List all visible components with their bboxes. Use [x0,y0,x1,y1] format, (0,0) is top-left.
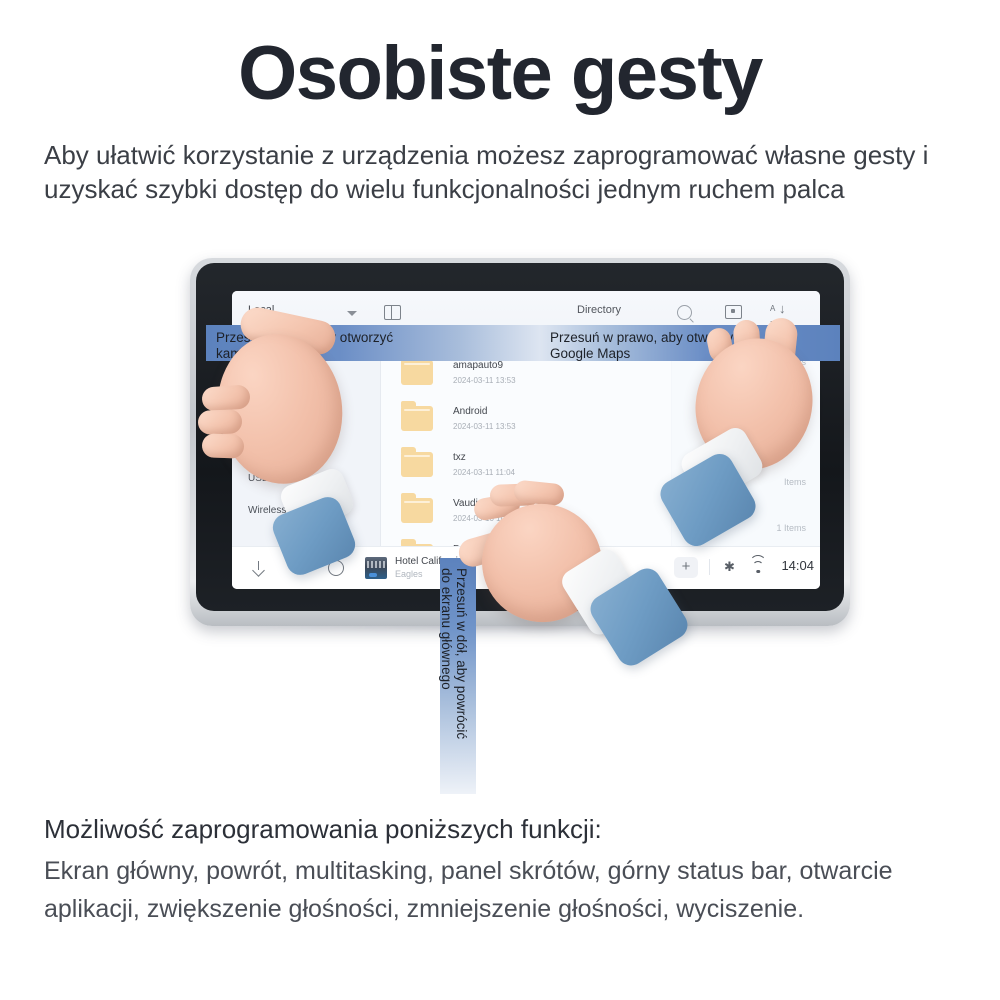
finger [202,433,245,458]
status-clock: 14:04 [781,558,814,573]
file-name: txz [453,452,466,463]
finger [201,384,251,411]
sort-arrow-glyph: ↓ [779,301,786,317]
folder-icon [401,360,433,385]
folder-icon [401,452,433,477]
bottom-bar-divider [709,559,710,575]
file-name: amapauto9 [453,360,503,371]
page-title: Osobiste gesty [0,32,1000,116]
sort-az-icon[interactable]: AZ ↓ [770,303,786,319]
hand-pointing-right [656,318,856,558]
new-folder-icon[interactable] [725,305,742,319]
track-artist: Eagles [395,569,423,579]
wifi-icon[interactable] [750,560,766,573]
file-date: 2024-03-11 11:04 [453,468,515,477]
file-name: Android [453,406,487,417]
hand-pointing-down [452,482,682,692]
promo-page: Osobiste gesty Aby ułatwić korzystanie z… [0,0,1000,1000]
bluetooth-icon[interactable]: ✱ [724,559,737,575]
file-list-item[interactable]: Android 2024-03-11 13:53 [381,399,671,445]
footer-title: Możliwość zaprogramowania poniższych fun… [44,812,984,846]
folder-icon [401,406,433,431]
file-date: 2024-03-11 13:53 [453,376,516,385]
intro-paragraph: Aby ułatwić korzystanie z urządzenia moż… [44,138,984,206]
download-icon[interactable] [252,561,265,575]
directory-label: Directory [577,304,621,316]
folder-icon [401,498,433,523]
footer-body: Ekran główny, powrót, multitasking, pane… [44,852,994,928]
file-date: 2024-03-11 13:53 [453,422,516,431]
hand-pointing-left [196,300,396,550]
finger [198,409,243,435]
album-art-thumbnail[interactable] [365,557,387,579]
